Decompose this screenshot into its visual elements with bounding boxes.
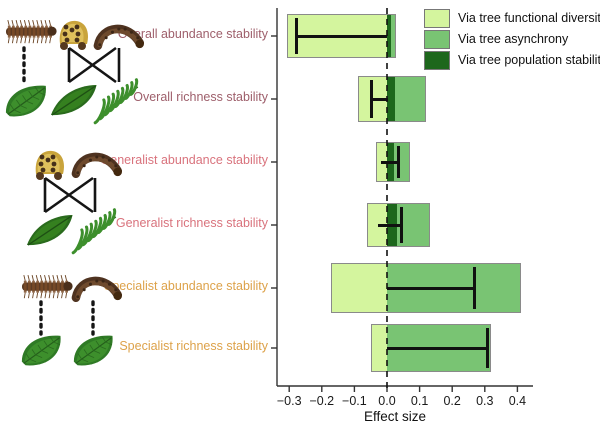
x-tick-label: −0.2 bbox=[304, 394, 340, 408]
error-bar-line bbox=[297, 35, 387, 38]
x-tick-label: 0.4 bbox=[499, 394, 535, 408]
x-tick-label: −0.3 bbox=[271, 394, 307, 408]
effect-size-figure: −0.3−0.2−0.10.00.10.20.30.4Effect sizeOv… bbox=[0, 0, 600, 426]
error-bar-cap bbox=[400, 207, 403, 243]
error-bar-line bbox=[387, 347, 487, 350]
legend-label: Via tree functional diversity bbox=[458, 11, 600, 25]
error-bar-cap bbox=[295, 18, 298, 54]
x-tick-label: 0.1 bbox=[402, 394, 438, 408]
legend: Via tree functional diversityVia tree as… bbox=[424, 8, 600, 71]
legend-label: Via tree asynchrony bbox=[458, 32, 568, 46]
legend-item: Via tree functional diversity bbox=[424, 8, 600, 28]
legend-item: Via tree asynchrony bbox=[424, 29, 600, 49]
bar-segment bbox=[387, 76, 395, 122]
error-bar-line bbox=[381, 161, 398, 164]
y-category-label: Generalist richness stability bbox=[0, 216, 268, 230]
y-category-label: Generalist abundance stability bbox=[0, 153, 268, 167]
x-tick-label: 0.3 bbox=[467, 394, 503, 408]
error-bar-cap bbox=[473, 267, 476, 309]
x-tick-label: −0.1 bbox=[336, 394, 372, 408]
x-tick-label: 0.0 bbox=[369, 394, 405, 408]
x-tick-label: 0.2 bbox=[434, 394, 470, 408]
legend-label: Via tree population stability bbox=[458, 53, 600, 67]
legend-swatch bbox=[424, 30, 450, 49]
error-bar-cap bbox=[397, 146, 400, 178]
legend-swatch bbox=[424, 51, 450, 70]
error-bar-cap bbox=[486, 328, 489, 368]
x-axis-title: Effect size bbox=[345, 409, 445, 424]
error-bar-line bbox=[372, 98, 388, 101]
legend-swatch bbox=[424, 9, 450, 28]
y-category-label: Overall abundance stability bbox=[0, 27, 268, 41]
bar-segment bbox=[395, 76, 425, 122]
legend-item: Via tree population stability bbox=[424, 50, 600, 70]
y-category-label: Specialist abundance stability bbox=[0, 279, 268, 293]
error-bar-line bbox=[378, 224, 402, 227]
bar-segment bbox=[371, 324, 387, 372]
y-category-label: Overall richness stability bbox=[0, 90, 268, 104]
bar-segment bbox=[331, 263, 387, 313]
y-category-label: Specialist richness stability bbox=[0, 339, 268, 353]
error-bar-line bbox=[387, 287, 474, 290]
bar-segment bbox=[391, 14, 396, 58]
error-bar-cap bbox=[370, 80, 373, 118]
